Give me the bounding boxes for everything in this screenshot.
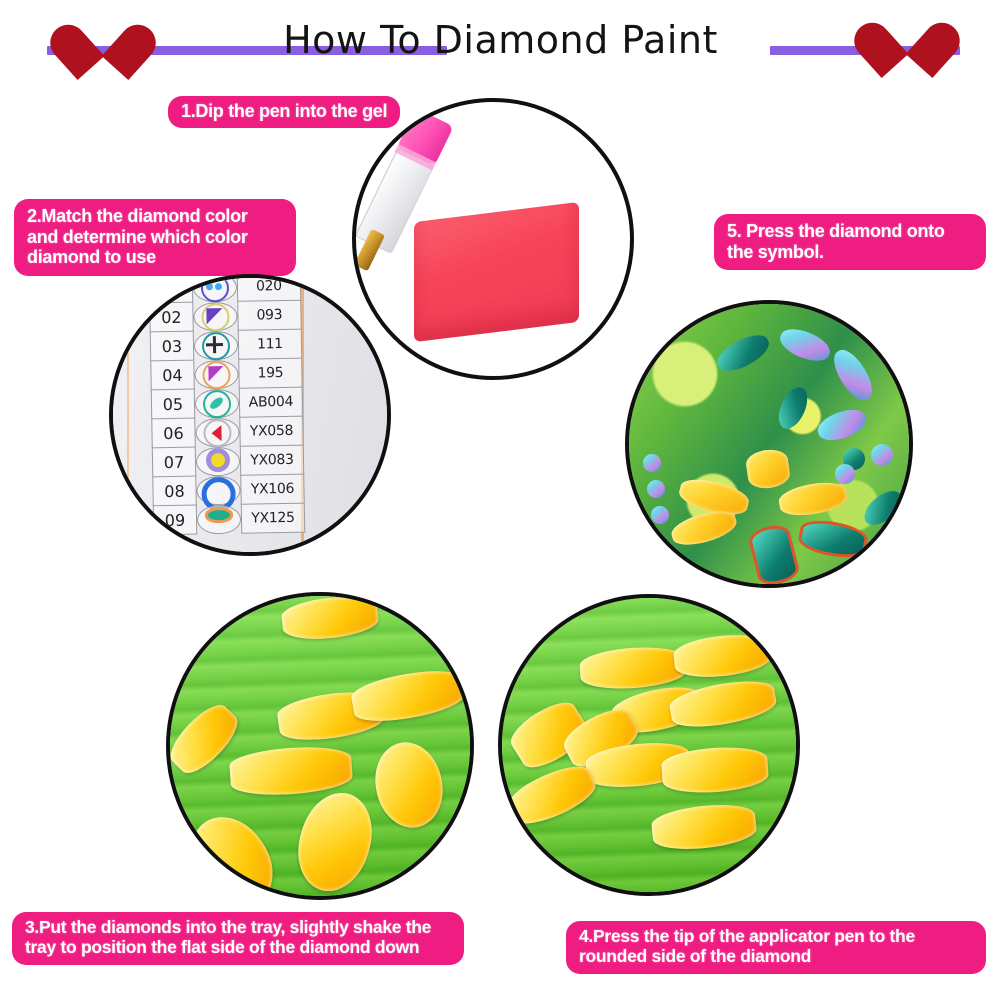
step-4-label: 4.Press the tip of the applicator pen to… — [566, 921, 986, 974]
plus-icon — [194, 330, 238, 360]
row-code: YX058 — [240, 416, 304, 446]
printed-canvas — [629, 304, 909, 584]
quarter-pie-icon — [193, 301, 237, 331]
row-code: YX125 — [241, 503, 305, 533]
step-5-label: 5. Press the diamond onto the symbol. — [714, 214, 986, 270]
table-row: 01 020 — [149, 274, 300, 303]
color-chart-sheet: 01 020 02 093 03 111 04 — [113, 278, 387, 552]
step-4-photo — [498, 594, 800, 896]
leaf-icon — [197, 504, 241, 534]
step-1-label: 1.Dip the pen into the gel — [168, 96, 400, 128]
page-title: How To Diamond Paint — [0, 18, 1001, 62]
step-3-label: 3.Put the diamonds into the tray, slight… — [12, 912, 464, 965]
donut-filled-icon — [196, 446, 240, 476]
diamond-tray — [502, 598, 796, 892]
diamond-tray — [170, 596, 470, 896]
page-header: How To Diamond Paint — [0, 0, 1001, 86]
triangle-icon — [194, 359, 238, 389]
row-number: 03 — [150, 331, 193, 361]
step-5-photo — [625, 300, 913, 588]
step-1-photo — [352, 98, 634, 380]
row-code: 111 — [238, 329, 302, 359]
step-2-label: 2.Match the diamond color and determine … — [14, 199, 296, 276]
table-row: 07 YX083 — [152, 445, 303, 477]
row-code: AB004 — [239, 387, 303, 417]
left-arrow-icon — [195, 417, 239, 447]
slash-oval-icon — [195, 388, 239, 418]
row-number: 07 — [152, 447, 195, 477]
row-number: 01 — [149, 274, 192, 303]
row-number: 06 — [152, 418, 195, 448]
step-3-photo — [166, 592, 474, 900]
step-2-photo: 01 020 02 093 03 111 04 — [109, 274, 391, 556]
table-row: 08 YX106 — [153, 474, 304, 506]
row-number: 08 — [153, 476, 196, 506]
table-row: 02 093 — [150, 300, 301, 332]
color-code-table: 01 020 02 093 03 111 04 — [149, 274, 306, 535]
row-number: 05 — [151, 389, 194, 419]
row-number: 04 — [151, 360, 194, 390]
table-row: 06 YX058 — [152, 416, 303, 448]
row-code: YX083 — [240, 445, 304, 475]
row-number: 09 — [153, 505, 196, 535]
table-row: 03 111 — [150, 329, 301, 361]
double-dot-icon — [193, 274, 237, 302]
table-row: 04 195 — [151, 358, 302, 390]
row-code: 093 — [238, 300, 302, 330]
row-number: 02 — [150, 302, 193, 332]
row-code: YX106 — [241, 474, 305, 504]
ring-icon — [196, 475, 240, 505]
table-row: 05 AB004 — [151, 387, 302, 419]
row-code: 195 — [239, 358, 303, 388]
table-row: 09 YX125 — [153, 503, 304, 535]
row-code: 020 — [237, 274, 301, 301]
gel-pad — [414, 202, 579, 342]
